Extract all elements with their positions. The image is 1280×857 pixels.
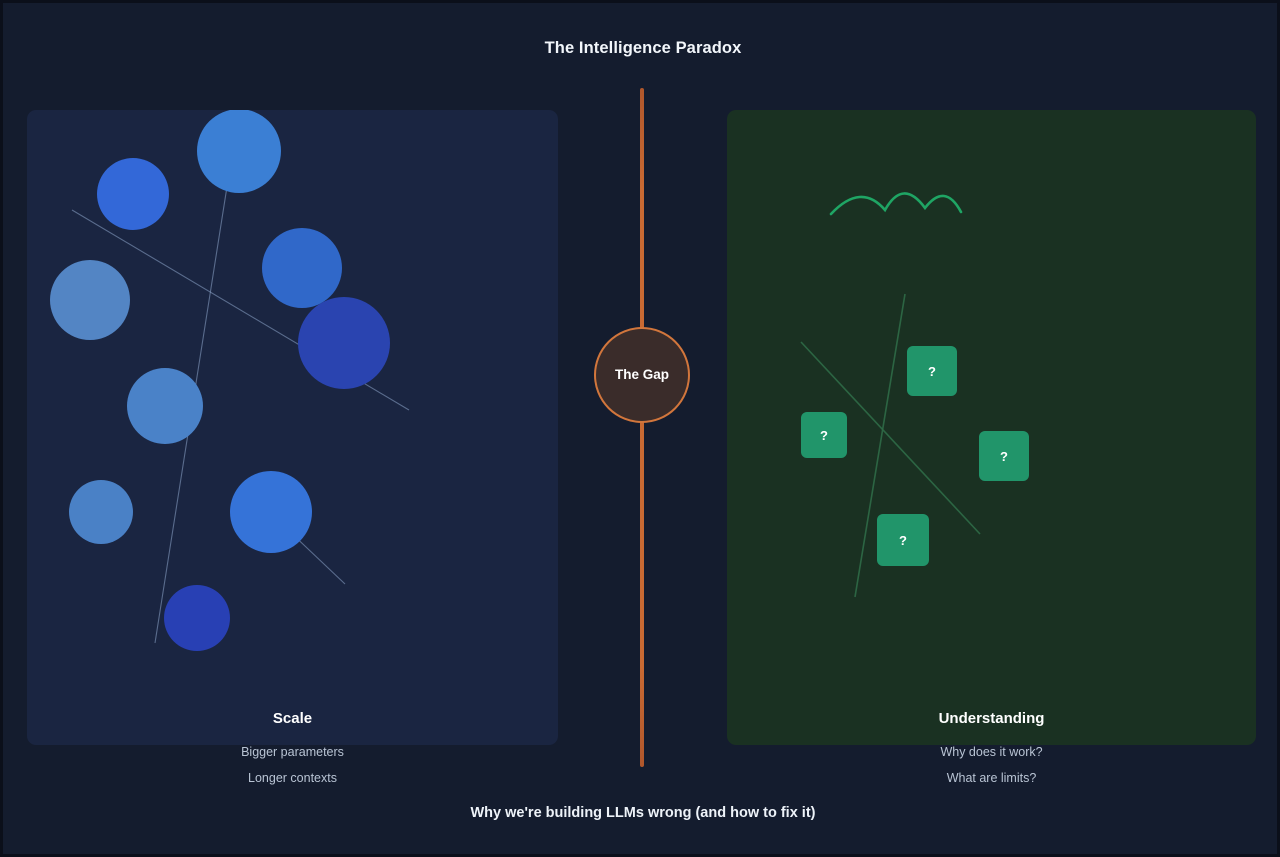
panel-scale-bullet-2: Longer contexts	[27, 771, 558, 785]
scale-node-2	[97, 158, 169, 230]
understanding-node-4: ?	[877, 514, 929, 566]
divider-line	[640, 88, 644, 767]
scale-node-graph	[27, 110, 558, 745]
question-mark-icon: ?	[899, 533, 907, 548]
panel-scale-title: Scale	[27, 710, 558, 727]
understanding-node-1: ?	[907, 346, 957, 396]
scale-node-5	[298, 297, 390, 389]
understanding-node-3: ?	[979, 431, 1029, 481]
question-mark-icon: ?	[1000, 449, 1008, 464]
understanding-wave-icon	[831, 193, 961, 214]
gap-node-label: The Gap	[615, 368, 669, 382]
scale-node-6	[127, 368, 203, 444]
footer-caption: Why we're building LLMs wrong (and how t…	[3, 805, 1280, 821]
scale-node-7	[69, 480, 133, 544]
panel-understanding: ????	[727, 110, 1256, 745]
scale-node-9	[164, 585, 230, 651]
understanding-node-graph: ????	[727, 110, 1256, 745]
question-mark-icon: ?	[928, 364, 936, 379]
infographic-canvas: The Intelligence Paradox Scale Bigger pa…	[0, 0, 1280, 857]
scale-node-4	[50, 260, 130, 340]
understanding-node-2: ?	[801, 412, 847, 458]
gap-node: The Gap	[594, 327, 690, 423]
question-mark-icon: ?	[820, 428, 828, 443]
scale-node-1	[197, 110, 281, 193]
panel-understanding-title: Understanding	[727, 710, 1256, 727]
scale-node-8	[230, 471, 312, 553]
panel-understanding-bullet-1: Why does it work?	[727, 745, 1256, 759]
panel-understanding-bullet-2: What are limits?	[727, 771, 1256, 785]
scale-node-3	[262, 228, 342, 308]
page-title: The Intelligence Paradox	[3, 39, 1280, 58]
panel-scale-bullet-1: Bigger parameters	[27, 745, 558, 759]
panel-scale	[27, 110, 558, 745]
